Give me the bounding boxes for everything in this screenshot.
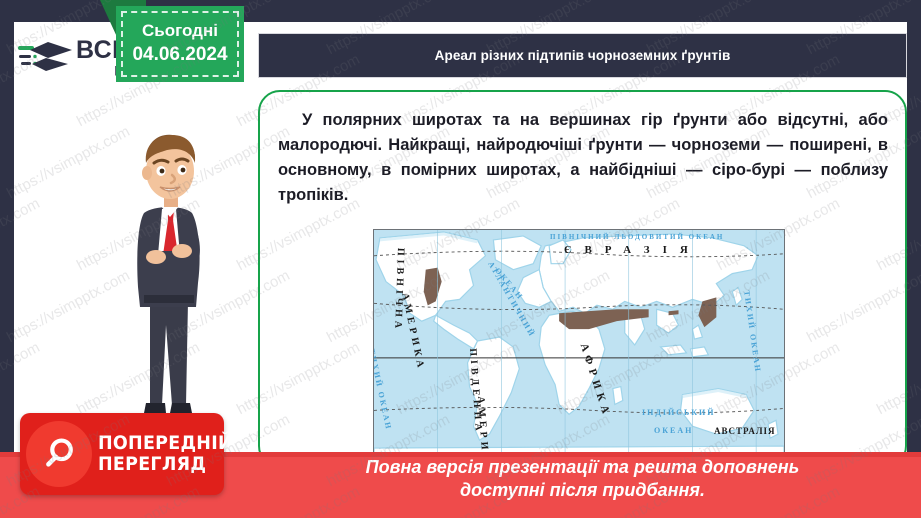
banner-line-2: доступні після придбання. <box>258 479 907 502</box>
slide-canvas: ВСІМ pptx Сьогодні 04.06.2024 Ареал різн… <box>0 0 921 518</box>
preview-line-2: ПЕРЕГЛЯД <box>98 454 233 475</box>
preview-line-1: ПОПЕРЕДНІЙ <box>98 433 233 454</box>
today-date-badge: Сьогодні 04.06.2024 <box>116 6 244 82</box>
date-badge-value: 04.06.2024 <box>132 44 227 67</box>
banner-line-1: Повна версія презентації та решта доповн… <box>258 456 907 479</box>
magnifier-icon <box>26 421 92 487</box>
slide-header-bar: Ареал різних підтипів чорноземних ґрунті… <box>258 33 907 78</box>
preview-badge-labels: ПОПЕРЕДНІЙ ПЕРЕГЛЯД <box>98 433 245 476</box>
banner-text: Повна версія презентації та решта доповн… <box>258 456 907 501</box>
presenter-character-illustration <box>110 105 240 425</box>
preview-badge: ПОПЕРЕДНІЙ ПЕРЕГЛЯД <box>20 413 224 495</box>
date-badge-label: Сьогодні <box>142 21 218 41</box>
world-map-image: ПІВНІЧНИЙ ЛЬОДОВИТИЙ ОКЕАНАТЛАНТИЧНИЙОКЕ… <box>373 229 785 455</box>
page-title: Ареал різних підтипів чорноземних ґрунті… <box>425 48 741 63</box>
body-paragraph: У полярних широтах та на вершинах гір ґр… <box>278 108 888 208</box>
graduation-cap-icon <box>18 36 74 76</box>
